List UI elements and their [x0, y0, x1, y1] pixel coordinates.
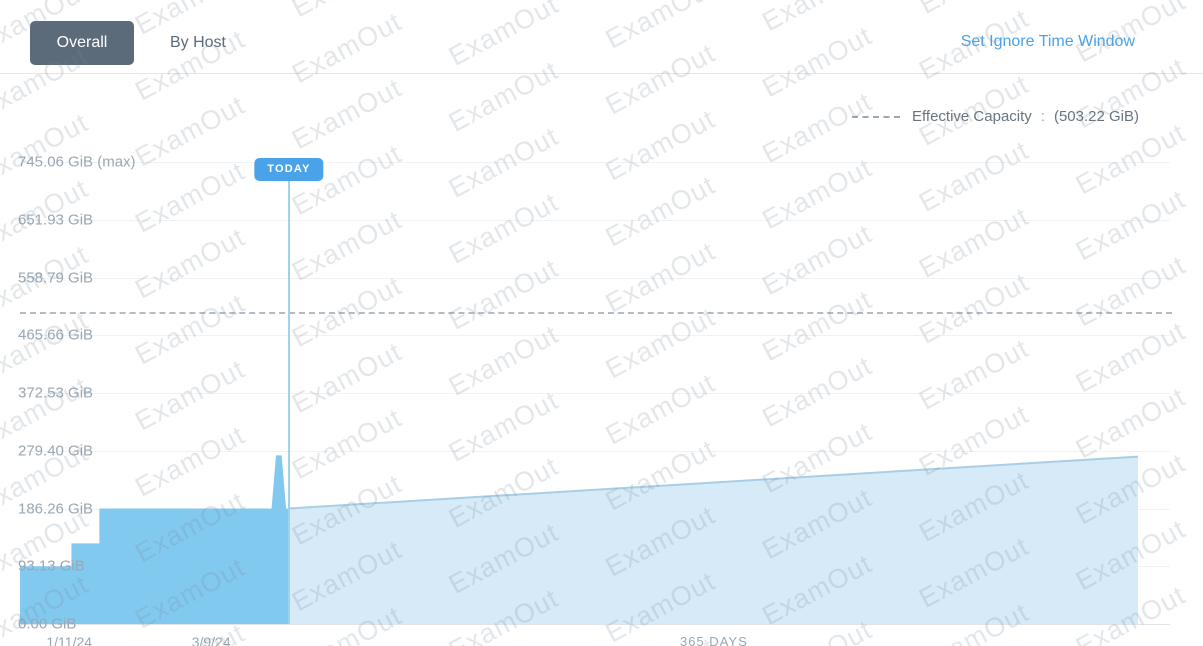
- y-axis-label: 279.40 GiB: [18, 442, 93, 459]
- today-marker-badge[interactable]: TODAY: [254, 158, 323, 181]
- y-axis-label: 186.26 GiB: [18, 500, 93, 517]
- series-area-historical-usage: [20, 455, 289, 624]
- capacity-runway-screen: Overall By Host Set Ignore Time Window E…: [0, 0, 1203, 646]
- tab-overall-label: Overall: [57, 34, 108, 52]
- x-axis-label: 1/11/24: [46, 634, 92, 646]
- set-ignore-time-window-link[interactable]: Set Ignore Time Window: [961, 33, 1135, 51]
- x-axis-label: 3/9/24: [192, 634, 231, 646]
- y-axis-label: 651.93 GiB: [18, 211, 93, 228]
- y-axis-label: 93.13 GiB: [18, 558, 85, 575]
- y-axis-label: 745.06 GiB (max): [18, 154, 136, 171]
- capacity-chart: 0.00 GiB93.13 GiB186.26 GiB279.40 GiB372…: [0, 74, 1203, 646]
- chart-series-layer: [10, 154, 1165, 639]
- today-marker-line: [288, 180, 290, 624]
- y-axis-label: 0.00 GiB: [18, 616, 76, 633]
- x-axis-line: [20, 624, 1170, 625]
- y-axis-label: 558.79 GiB: [18, 269, 93, 286]
- y-axis-label: 465.66 GiB: [18, 327, 93, 344]
- x-axis-span-label: 365 DAYS: [680, 634, 748, 646]
- y-axis-label: 372.53 GiB: [18, 385, 93, 402]
- chart-plot-area[interactable]: 0.00 GiB93.13 GiB186.26 GiB279.40 GiB372…: [10, 154, 1165, 639]
- effective-capacity-line: [20, 312, 1172, 314]
- tab-by-host-label: By Host: [170, 34, 226, 52]
- tab-overall[interactable]: Overall: [30, 21, 134, 65]
- tab-by-host[interactable]: By Host: [150, 21, 246, 65]
- view-toolbar: Overall By Host Set Ignore Time Window: [0, 0, 1203, 74]
